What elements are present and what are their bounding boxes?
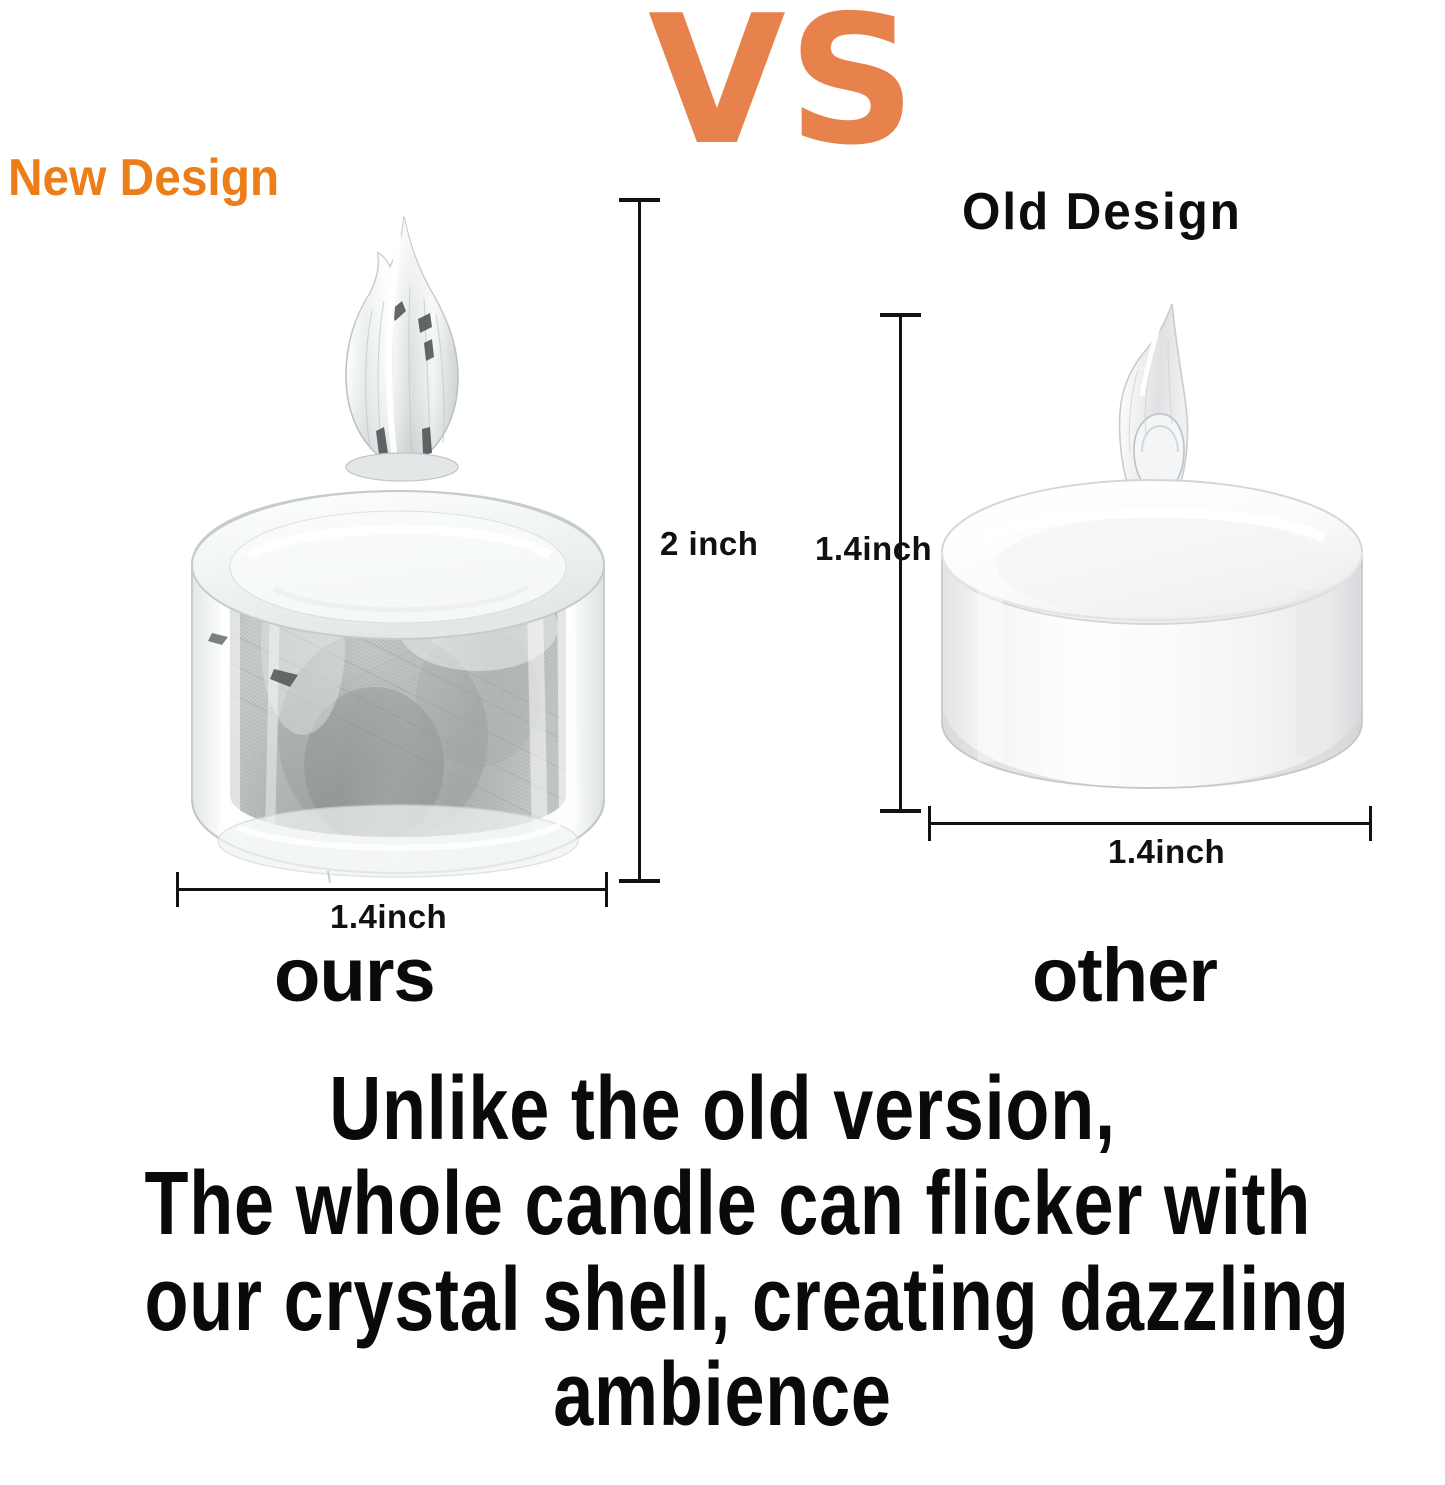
crystal-candle-image xyxy=(160,215,630,895)
right-width-label: 1.4inch xyxy=(1108,833,1225,871)
left-width-dimension-line xyxy=(176,888,608,891)
marketing-line-1: Unlike the old version, xyxy=(145,1062,1301,1157)
right-height-label: 1.4inch xyxy=(815,530,932,568)
white-candle-body-icon xyxy=(932,470,1372,820)
marketing-text-block: Unlike the old version, The whole candle… xyxy=(0,1062,1445,1444)
left-width-label: 1.4inch xyxy=(330,898,447,936)
marketing-line-2: The whole candle can flicker with xyxy=(145,1157,1301,1252)
left-product-caption: ours xyxy=(274,932,435,1019)
product-comparison-image: VS New Design Old Design xyxy=(0,0,1445,1485)
marketing-line-3: our crystal shell, creating dazzling xyxy=(145,1253,1301,1348)
crystal-body-icon xyxy=(178,447,618,889)
left-height-dimension-line xyxy=(638,198,641,883)
new-design-badge: New Design xyxy=(8,148,279,208)
old-design-badge: Old Design xyxy=(962,182,1242,242)
marketing-line-4: ambience xyxy=(145,1348,1301,1443)
right-product-caption: other xyxy=(1032,932,1217,1019)
right-width-dimension-line xyxy=(928,822,1372,825)
vs-label: VS xyxy=(648,0,918,170)
left-height-label: 2 inch xyxy=(660,525,758,563)
white-candle-image xyxy=(930,300,1375,820)
crystal-flame-icon xyxy=(332,215,472,485)
